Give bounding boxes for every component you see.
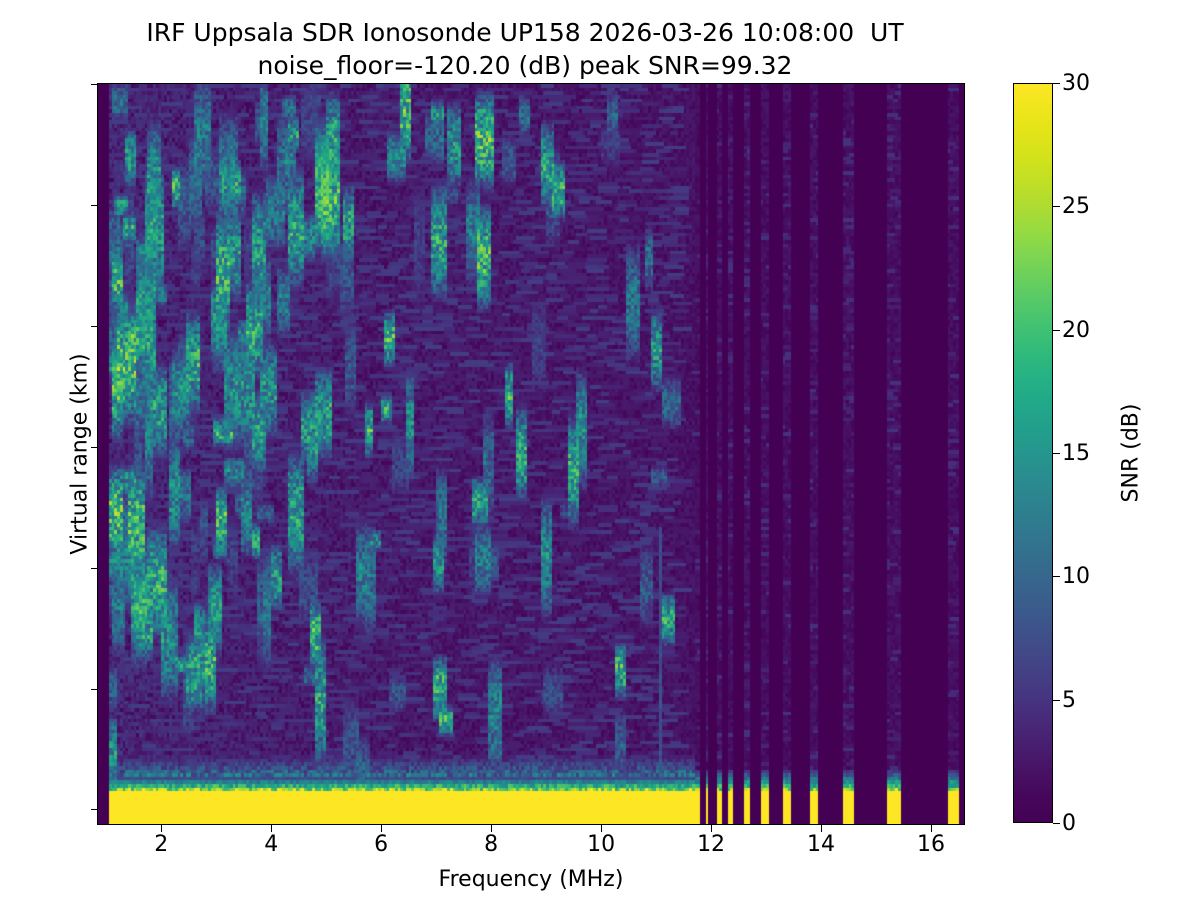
colorbar-tick-label-10: 10 (1062, 564, 1152, 589)
x-axis-label: Frequency (MHz) (98, 867, 964, 892)
colorbar-tick-label-20: 20 (1062, 318, 1152, 343)
x-tick-mark-6 (381, 825, 382, 832)
x-tick-label-16: 16 (886, 832, 976, 857)
colorbar-tick-mark-5 (1053, 700, 1060, 701)
colorbar-gradient (1013, 83, 1053, 823)
colorbar-group: 051015202530 SNR (dB) (1013, 83, 1053, 823)
x-tick-label-12: 12 (666, 832, 756, 857)
title-line-2: noise_floor=-120.20 (dB) peak SNR=99.32 (0, 49, 1050, 82)
x-tick-mark-16 (931, 825, 932, 832)
x-tick-label-10: 10 (556, 832, 646, 857)
x-tick-label-4: 4 (226, 832, 316, 857)
plot-axes: 0100200300400500600 Virtual range (km) 2… (97, 83, 965, 825)
colorbar-tick-label-30: 30 (1062, 71, 1152, 96)
colorbar-tick-mark-30 (1053, 83, 1060, 84)
title-line-1: IRF Uppsala SDR Ionosonde UP158 2026-03-… (0, 16, 1050, 49)
y-tick-mark-0 (91, 809, 98, 810)
colorbar-tick-label-0: 0 (1062, 811, 1152, 836)
colorbar-tick-label-5: 5 (1062, 688, 1152, 713)
x-tick-mark-12 (711, 825, 712, 832)
colorbar-tick-mark-15 (1053, 453, 1060, 454)
y-tick-mark-500 (91, 205, 98, 206)
colorbar-tick-mark-20 (1053, 330, 1060, 331)
y-tick-mark-200 (91, 568, 98, 569)
colorbar-label: SNR (dB) (1119, 404, 1144, 503)
colorbar-tick-label-25: 25 (1062, 194, 1152, 219)
x-tick-label-14: 14 (776, 832, 866, 857)
figure-title: IRF Uppsala SDR Ionosonde UP158 2026-03-… (0, 16, 1050, 82)
y-tick-mark-100 (91, 689, 98, 690)
x-tick-mark-4 (271, 825, 272, 832)
y-tick-mark-600 (91, 84, 98, 85)
colorbar-tick-mark-0 (1053, 823, 1060, 824)
ionogram-figure: IRF Uppsala SDR Ionosonde UP158 2026-03-… (0, 0, 1200, 900)
x-tick-mark-14 (821, 825, 822, 832)
x-tick-mark-2 (161, 825, 162, 832)
x-tick-mark-8 (491, 825, 492, 832)
colorbar-tick-mark-25 (1053, 206, 1060, 207)
x-tick-label-8: 8 (446, 832, 536, 857)
ionogram-heatmap (98, 84, 964, 824)
y-axis-label: Virtual range (km) (68, 353, 93, 554)
x-tick-mark-10 (601, 825, 602, 832)
x-tick-label-2: 2 (116, 832, 206, 857)
colorbar-tick-mark-10 (1053, 576, 1060, 577)
y-tick-mark-400 (91, 326, 98, 327)
x-tick-label-6: 6 (336, 832, 426, 857)
